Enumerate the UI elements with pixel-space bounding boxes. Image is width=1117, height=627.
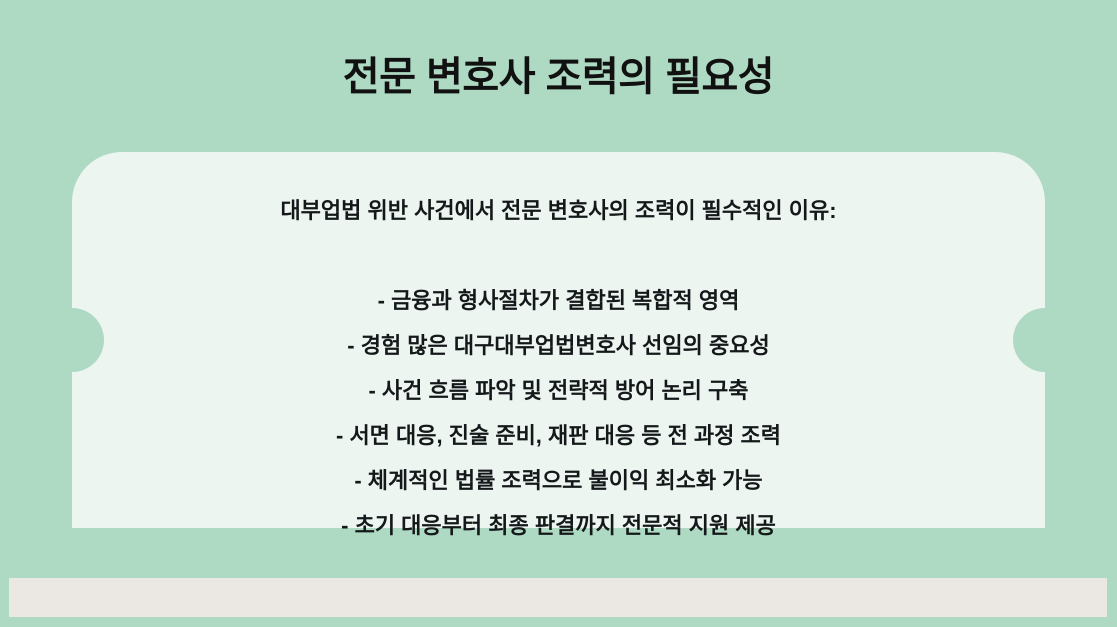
list-item: - 경험 많은 대구대부업법변호사 선임의 중요성 xyxy=(72,323,1045,368)
content-spacer xyxy=(72,233,1045,278)
list-item: - 사건 흐름 파악 및 전략적 방어 논리 구축 xyxy=(72,368,1045,413)
benefit-list: - 금융과 형사절차가 결합된 복합적 영역 - 경험 많은 대구대부업법변호사… xyxy=(72,278,1045,548)
card-content: 대부업법 위반 사건에서 전문 변호사의 조력이 필수적인 이유: - 금융과 … xyxy=(72,152,1045,548)
footer-bar xyxy=(9,578,1107,617)
presentation-slide: 전문 변호사 조력의 필요성 대부업법 위반 사건에서 전문 변호사의 조력이 … xyxy=(0,0,1117,627)
list-item: - 체계적인 법률 조력으로 불이익 최소화 가능 xyxy=(72,458,1045,503)
page-title: 전문 변호사 조력의 필요성 xyxy=(0,53,1117,101)
card-heading: 대부업법 위반 사건에서 전문 변호사의 조력이 필수적인 이유: xyxy=(72,188,1045,233)
list-item: - 초기 대응부터 최종 판결까지 전문적 지원 제공 xyxy=(72,503,1045,548)
list-item: - 금융과 형사절차가 결합된 복합적 영역 xyxy=(72,278,1045,323)
ticket-card: 대부업법 위반 사건에서 전문 변호사의 조력이 필수적인 이유: - 금융과 … xyxy=(72,152,1045,528)
list-item: - 서면 대응, 진술 준비, 재판 대응 등 전 과정 조력 xyxy=(72,413,1045,458)
